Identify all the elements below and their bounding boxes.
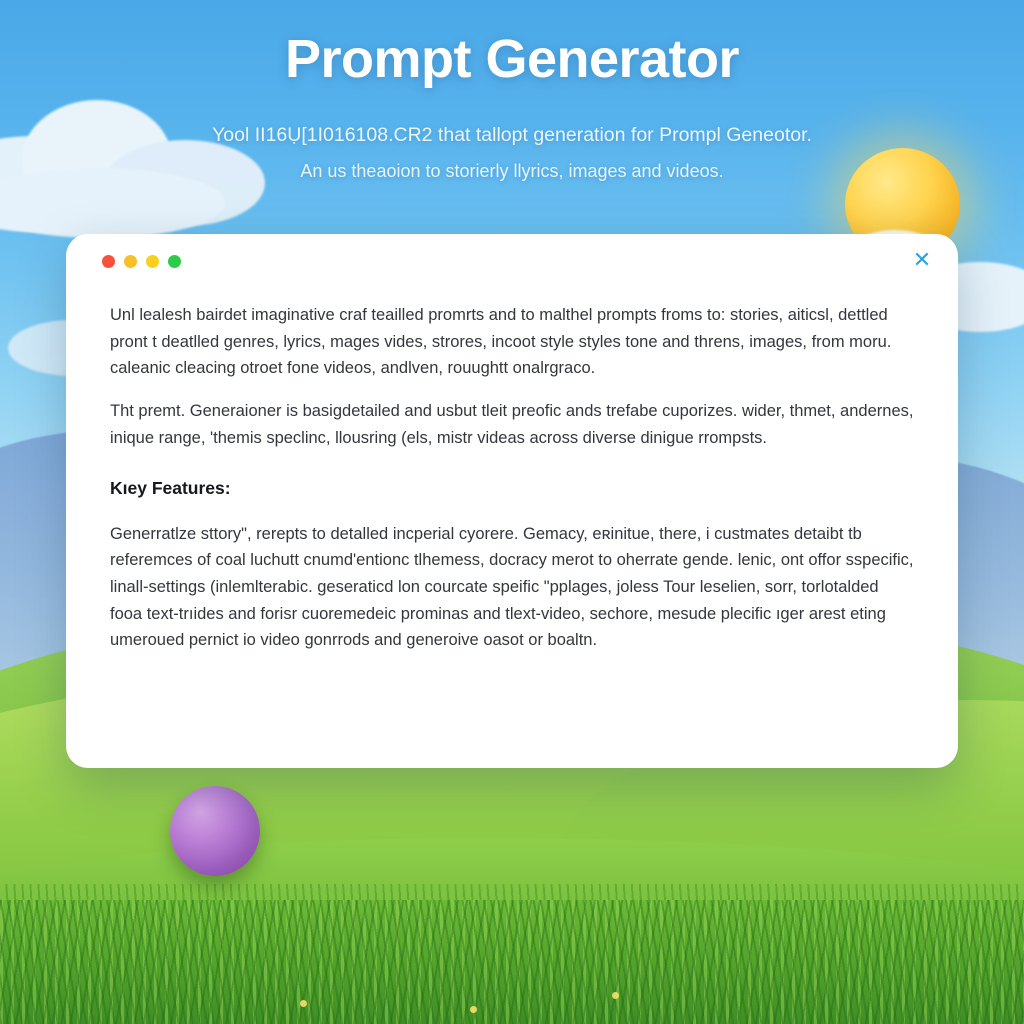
window-controls[interactable] [102,255,181,268]
card-titlebar: ✕ [66,234,958,286]
minimize-dot[interactable] [124,255,137,268]
extra-dot[interactable] [168,255,181,268]
flower-petal [470,1006,477,1013]
info-modal-card: ✕ Unl lealesh bairdet imaginative craf t… [66,234,958,768]
flower-petal [612,992,619,999]
key-features-heading: Kıey Features: [110,478,914,499]
page-subtitle-line1: Yool II16Ụ[1I016108.CR2 that tallopt gen… [0,124,1024,147]
flower-petal [300,1000,307,1007]
page-title: Prompt Generator [0,28,1024,90]
page-header: Prompt Generator Yool II16Ụ[1I016108.CR2… [0,0,1024,182]
maximize-dot[interactable] [146,255,159,268]
purple-sphere [170,786,260,876]
key-features-paragraph: Generratlze sttory", rerepts to detalled… [110,521,914,655]
grass-foreground [0,900,1024,1024]
card-body: Unl lealesh bairdet imaginative craf tea… [66,286,958,654]
page-subtitle-line2: An us theaoion to storierly llyrics, ima… [0,161,1024,182]
close-icon[interactable]: ✕ [908,246,936,274]
close-dot[interactable] [102,255,115,268]
description-paragraph-1: Unl lealesh bairdet imaginative craf tea… [110,302,914,382]
description-paragraph-2: Tht premt. Generaioner is basigdetailed … [110,398,914,451]
